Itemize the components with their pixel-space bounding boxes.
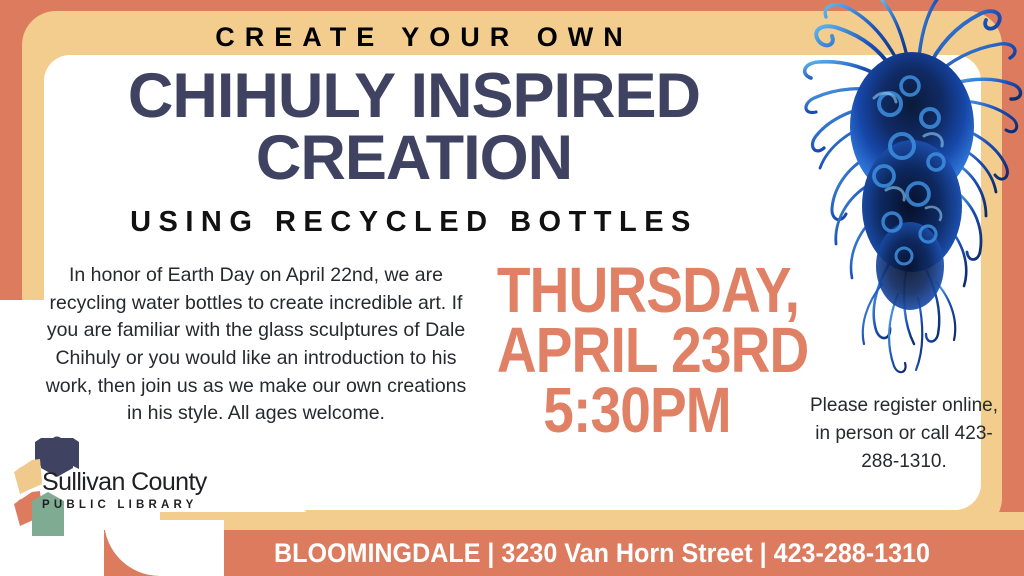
page-title-line-1: CHIHULY INSPIRED <box>44 66 784 128</box>
page-subtitle: USING RECYCLED BOTTLES <box>44 206 784 239</box>
event-day: THURSDAY, <box>497 260 777 320</box>
flyer-canvas: CREATE YOUR OWN CHIHULY INSPIRED CREATIO… <box>0 0 1024 576</box>
page-title-line-2: CREATION <box>44 128 784 190</box>
body-description: In honor of Earth Day on April 22nd, we … <box>36 262 476 428</box>
event-time: 5:30PM <box>497 380 777 440</box>
event-date: APRIL 23RD <box>497 320 777 380</box>
book-tan <box>14 459 42 494</box>
library-name: Sullivan County <box>42 470 192 495</box>
page-title: CHIHULY INSPIRED CREATION <box>44 66 784 189</box>
library-subtitle: PUBLIC LIBRARY <box>42 499 192 511</box>
event-date-block: THURSDAY, APRIL 23RD 5:30PM <box>497 260 777 440</box>
footer-tan-strip <box>160 512 1024 532</box>
library-logo-text: Sullivan County PUBLIC LIBRARY <box>42 470 192 511</box>
footer-location-text: BLOOMINGDALE | 3230 Van Horn Street | 42… <box>210 530 995 576</box>
registration-note: Please register online, in person or cal… <box>806 392 1002 476</box>
eyebrow-heading: CREATE YOUR OWN <box>44 16 804 58</box>
